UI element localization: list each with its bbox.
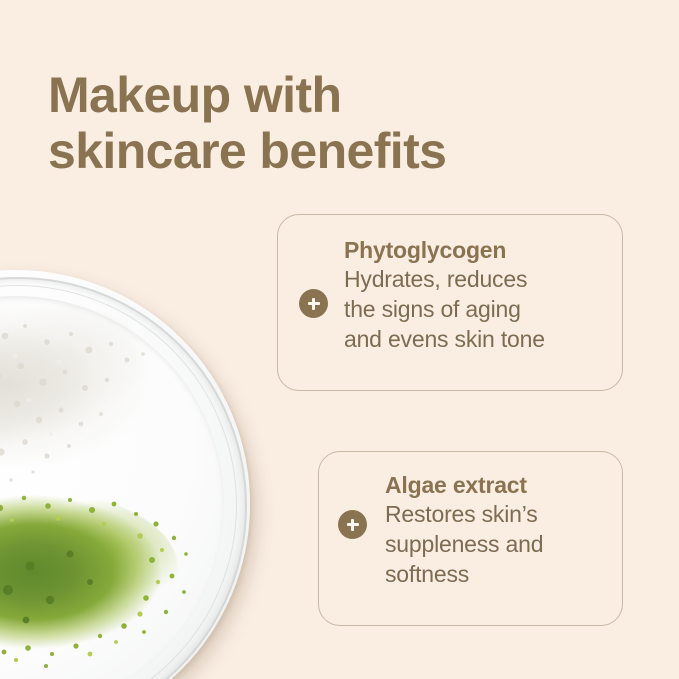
benefit-description: Hydrates, reduces the signs of aging and… bbox=[344, 265, 614, 355]
benefit-description-line: Hydrates, reduces bbox=[344, 265, 614, 295]
green-powder-grains bbox=[0, 480, 200, 670]
page-title: Makeup with skincare benefits bbox=[48, 67, 608, 179]
benefit-title: Algae extract bbox=[385, 472, 617, 499]
benefit-description-line: Restores skin’s bbox=[385, 500, 617, 530]
plus-icon bbox=[346, 518, 360, 532]
benefit-card-algae-extract: Algae extract Restores skin’s suppleness… bbox=[318, 451, 623, 626]
plus-icon bbox=[307, 297, 321, 311]
benefit-card-phytoglycogen: Phytoglycogen Hydrates, reduces the sign… bbox=[277, 214, 623, 391]
plus-badge bbox=[299, 289, 328, 318]
benefit-card-text: Phytoglycogen Hydrates, reduces the sign… bbox=[344, 237, 614, 355]
headline-line-2: skincare benefits bbox=[48, 123, 608, 179]
promo-banner: Makeup with skincare benefits Phytoglyco… bbox=[0, 0, 679, 679]
benefit-description: Restores skin’s suppleness and softness bbox=[385, 500, 617, 590]
headline-line-1: Makeup with bbox=[48, 67, 608, 123]
benefit-description-line: softness bbox=[385, 560, 617, 590]
plus-badge bbox=[338, 510, 367, 539]
benefit-title: Phytoglycogen bbox=[344, 237, 614, 264]
benefit-description-line: and evens skin tone bbox=[344, 325, 614, 355]
benefit-card-text: Algae extract Restores skin’s suppleness… bbox=[385, 472, 617, 590]
benefit-description-line: suppleness and bbox=[385, 530, 617, 560]
benefit-description-line: the signs of aging bbox=[344, 295, 614, 325]
white-powder-grains bbox=[0, 296, 175, 491]
